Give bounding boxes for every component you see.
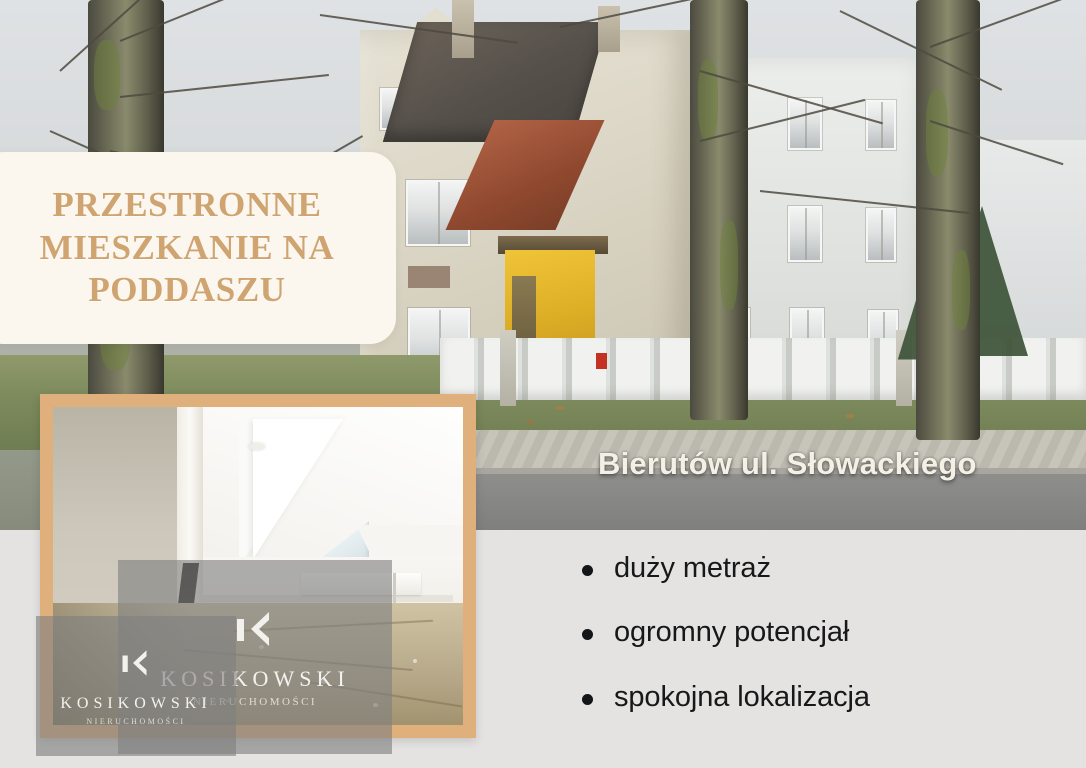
feature-list: duży metraż ogromny potencjał spokojna l… — [578, 552, 1048, 745]
bare-tree-trunk — [916, 0, 980, 440]
location-label: Bierutów ul. Słowackiego — [598, 446, 977, 482]
chimney — [452, 0, 474, 58]
list-item: duży metraż — [578, 552, 1048, 584]
wall-patch — [408, 266, 450, 288]
skylight-reveal — [253, 419, 343, 559]
k-monogram-icon — [121, 646, 151, 685]
k-monogram-icon — [235, 607, 275, 656]
fence-post — [500, 330, 516, 406]
window — [788, 206, 822, 262]
list-item: spokojna lokalizacja — [578, 681, 1048, 713]
page-title: PRZESTRONNE MIESZKANIE NA PODDASZU — [0, 184, 396, 312]
window — [866, 208, 896, 262]
road — [430, 474, 1086, 530]
bare-tree-trunk — [690, 0, 748, 420]
list-item: ogromny potencjał — [578, 616, 1048, 648]
watermark-tagline: NIERUCHOMOŚCI — [86, 717, 185, 726]
window — [866, 100, 896, 150]
advertisement-canvas: PRZESTRONNE MIESZKANIE NA PODDASZU Bieru… — [0, 0, 1086, 768]
watermark-lower: KOSIKOWSKI NIERUCHOMOŚCI — [36, 616, 236, 756]
headline-card: PRZESTRONNE MIESZKANIE NA PODDASZU — [0, 152, 396, 344]
fence-sign — [596, 353, 607, 369]
watermark-brand: KOSIKOWSKI — [60, 695, 211, 713]
ceiling-light — [249, 443, 265, 450]
